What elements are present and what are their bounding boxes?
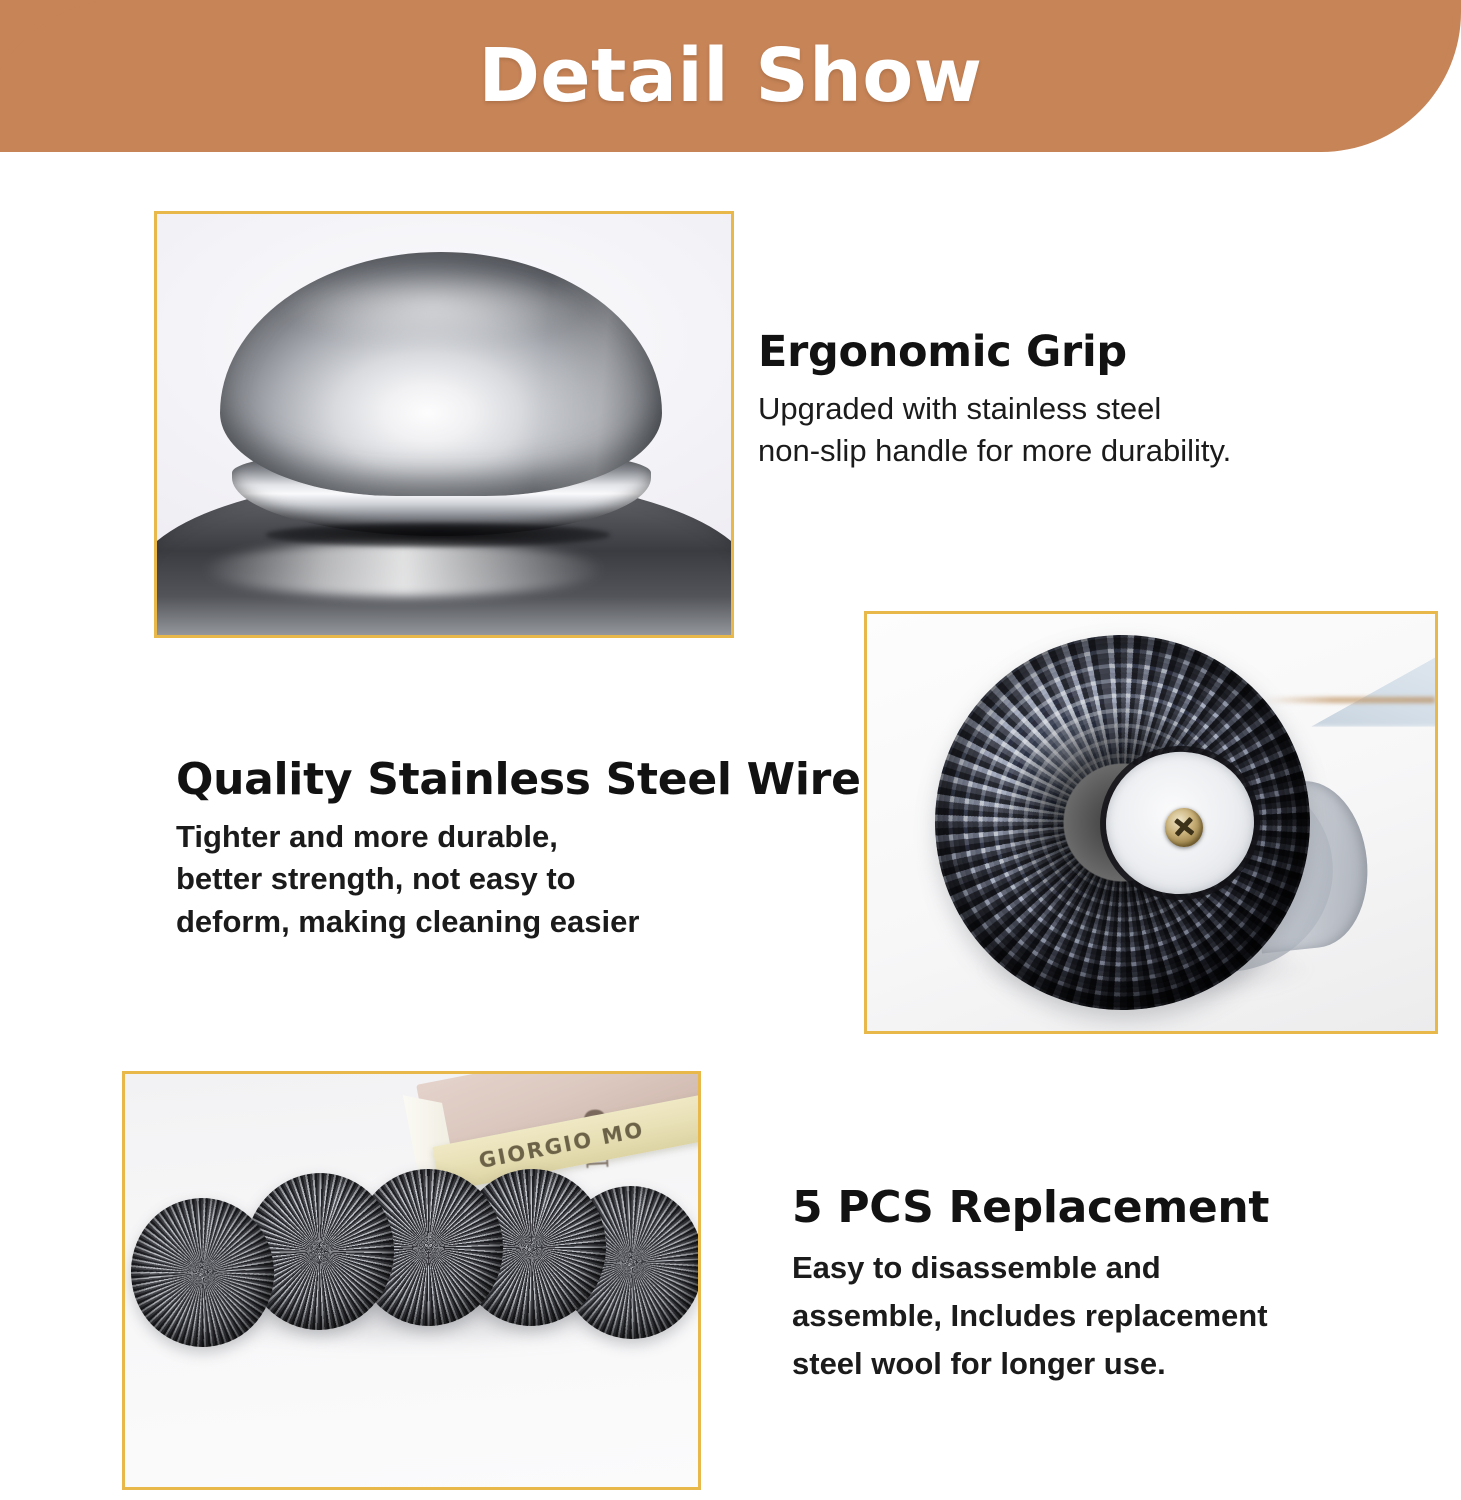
handle-collar-shadow <box>266 523 610 546</box>
product-photo-five-scrubber-balls: MO GIORGIO MO <box>125 1074 698 1487</box>
feature-body-line: non-slip handle for more durability. <box>758 433 1231 468</box>
feature-body-line: steel wool for longer use. <box>792 1346 1166 1381</box>
feature-body-line: assemble, Includes replacement <box>792 1298 1268 1333</box>
feature-body-line: Tighter and more durable, <box>176 819 558 854</box>
product-photo-steel-wool-ball <box>867 614 1435 1031</box>
feature-text-ergonomic-grip: Ergonomic Grip Upgraded with stainless s… <box>758 328 1388 472</box>
feature-body-line: better strength, not easy to <box>176 861 576 896</box>
feature-text-replacement-pack: 5 PCS Replacement Easy to disassemble an… <box>792 1183 1372 1388</box>
feature-body-line: Easy to disassemble and <box>792 1250 1161 1285</box>
feature-heading-quality-stainless-steel-wire: Quality Stainless Steel Wire <box>176 755 856 804</box>
background-blurred-edge <box>1265 697 1435 703</box>
feature-body-line: deform, making cleaning easier <box>176 904 639 939</box>
feature-text-quality-stainless-steel-wire: Quality Stainless Steel Wire Tighter and… <box>176 755 856 943</box>
feature-body-quality-stainless-steel-wire: Tighter and more durable, better strengt… <box>176 816 856 942</box>
page-title: Detail Show <box>0 0 1461 152</box>
feature-image-frame-replacement-pack: MO GIORGIO MO <box>122 1071 701 1490</box>
product-photo-handle-knob <box>157 214 731 635</box>
center-mounting-screw <box>1165 808 1202 847</box>
feature-body-ergonomic-grip: Upgraded with stainless steel non-slip h… <box>758 388 1388 472</box>
feature-body-line: Upgraded with stainless steel <box>758 391 1161 426</box>
feature-heading-replacement-pack: 5 PCS Replacement <box>792 1183 1372 1232</box>
feature-image-frame-steel-wire <box>864 611 1438 1034</box>
feature-heading-ergonomic-grip: Ergonomic Grip <box>758 328 1388 376</box>
handle-base-highlight <box>203 542 605 597</box>
handle-dome-specular-highlight <box>283 269 581 345</box>
feature-body-replacement-pack: Easy to disassemble and assemble, Includ… <box>792 1244 1372 1388</box>
feature-image-frame-ergonomic-grip <box>154 211 734 638</box>
